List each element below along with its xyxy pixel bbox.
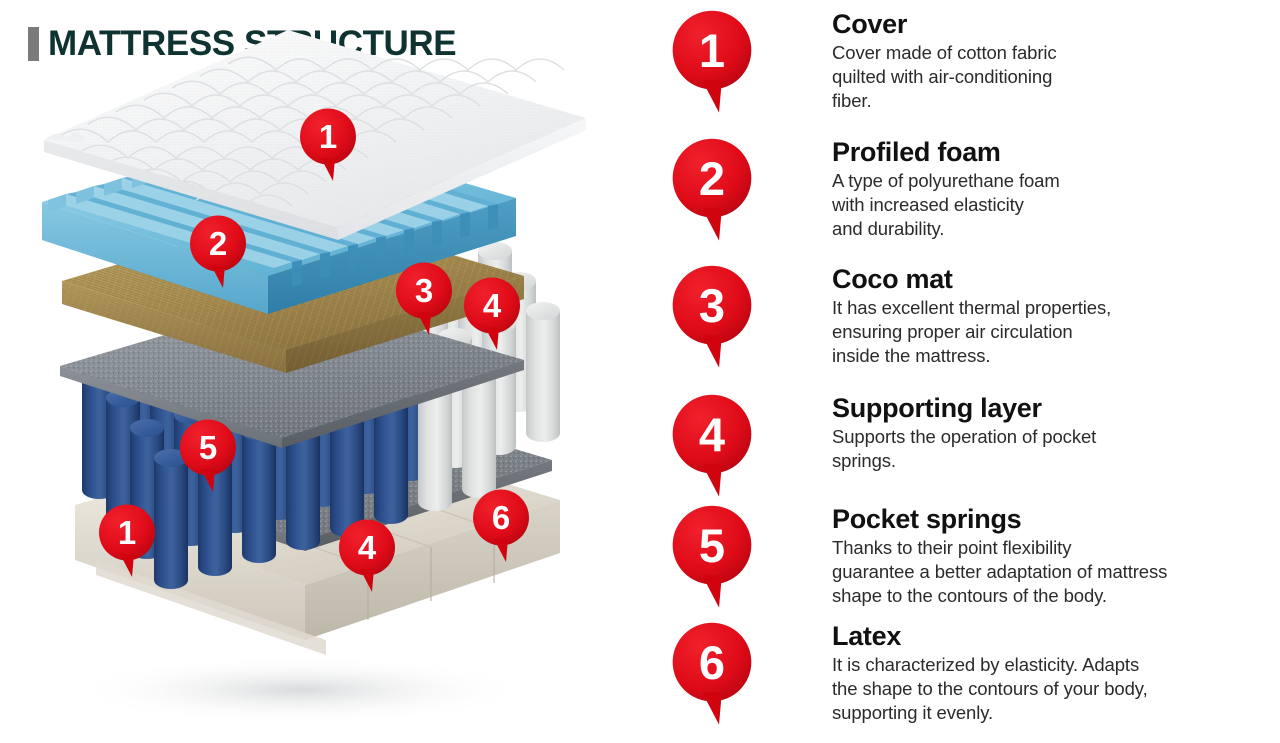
legend-description: It is characterized by elasticity. Adapt… [832, 653, 1272, 725]
marker-number: 1 [99, 504, 155, 561]
diagram-marker-6-latex[interactable]: 6 [473, 489, 529, 563]
diagram-marker-4-supporting-layer-lower[interactable]: 4 [339, 519, 395, 593]
diagram-marker-5-pocket-springs[interactable]: 5 [180, 419, 236, 493]
legend-pin-number: 1 [672, 10, 752, 91]
legend-text-6: Latex It is characterized by elasticity.… [832, 622, 1272, 725]
legend-title: Cover [832, 10, 1272, 39]
legend-description: Thanks to their point flexibility guaran… [832, 536, 1272, 608]
layer-legend-list: 1 Cover Cover made of cotton fabric quil… [672, 0, 1280, 743]
diagram-marker-1-latex-lower[interactable]: 1 [99, 504, 155, 578]
diagram-marker-4-supporting-layer-upper[interactable]: 4 [464, 277, 520, 351]
marker-number: 3 [396, 262, 452, 319]
legend-title: Latex [832, 622, 1272, 651]
legend-pin-number: 4 [672, 394, 752, 475]
legend-pin-4[interactable]: 4 [672, 394, 752, 498]
marker-number: 4 [464, 277, 520, 334]
legend-pin-6[interactable]: 6 [672, 622, 752, 726]
legend-pin-number: 3 [672, 265, 752, 346]
legend-pin-3[interactable]: 3 [672, 265, 752, 369]
marker-number: 4 [339, 519, 395, 576]
legend-description: It has excellent thermal properties, ens… [832, 296, 1272, 368]
marker-number: 1 [300, 108, 356, 165]
legend-text-5: Pocket springs Thanks to their point fle… [832, 505, 1272, 608]
legend-pin-number: 6 [672, 622, 752, 703]
marker-number: 2 [190, 215, 246, 272]
legend-pin-number: 5 [672, 505, 752, 586]
legend-title: Coco mat [832, 265, 1272, 294]
legend-pin-number: 2 [672, 138, 752, 219]
legend-title: Supporting layer [832, 394, 1272, 423]
diagram-marker-2-profiled-foam[interactable]: 2 [190, 215, 246, 289]
legend-pin-2[interactable]: 2 [672, 138, 752, 242]
legend-text-1: Cover Cover made of cotton fabric quilte… [832, 10, 1272, 113]
legend-text-2: Profiled foam A type of polyurethane foa… [832, 138, 1272, 241]
legend-text-3: Coco mat It has excellent thermal proper… [832, 265, 1272, 368]
legend-description: Cover made of cotton fabric quilted with… [832, 41, 1272, 113]
diagram-marker-1-cover[interactable]: 1 [300, 108, 356, 182]
marker-number: 5 [180, 419, 236, 476]
legend-text-4: Supporting layer Supports the operation … [832, 394, 1272, 473]
legend-description: A type of polyurethane foam with increas… [832, 169, 1272, 241]
marker-number: 6 [473, 489, 529, 546]
legend-pin-5[interactable]: 5 [672, 505, 752, 609]
legend-description: Supports the operation of pocket springs… [832, 425, 1272, 473]
legend-title: Pocket springs [832, 505, 1272, 534]
legend-title: Profiled foam [832, 138, 1272, 167]
diagram-marker-3-coco-mat[interactable]: 3 [396, 262, 452, 336]
legend-pin-1[interactable]: 1 [672, 10, 752, 114]
